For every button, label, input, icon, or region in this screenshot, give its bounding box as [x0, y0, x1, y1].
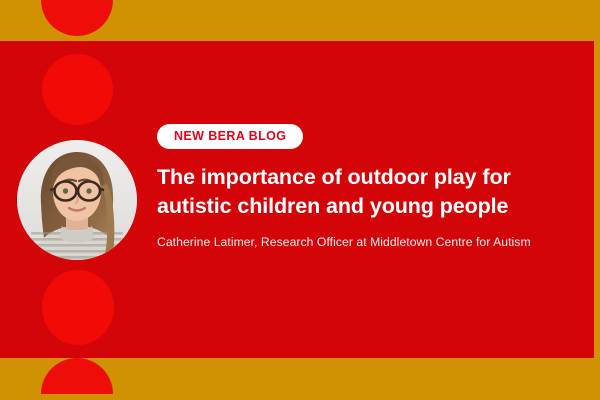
author-byline: Catherine Latimer, Research Officer at M… — [157, 235, 589, 251]
avatar — [17, 140, 137, 260]
red-circle-upper-decoration — [42, 54, 113, 125]
page-title: The importance of outdoor play for autis… — [157, 163, 552, 221]
blog-promo-banner: NEW BERA BLOG The importance of outdoor … — [0, 0, 600, 400]
red-circle-lower-decoration — [42, 270, 114, 345]
status-badge: NEW BERA BLOG — [157, 124, 303, 149]
gold-band-right-decoration — [594, 0, 600, 400]
banner-content: NEW BERA BLOG The importance of outdoor … — [157, 124, 589, 251]
avatar-portrait-icon — [17, 140, 137, 260]
